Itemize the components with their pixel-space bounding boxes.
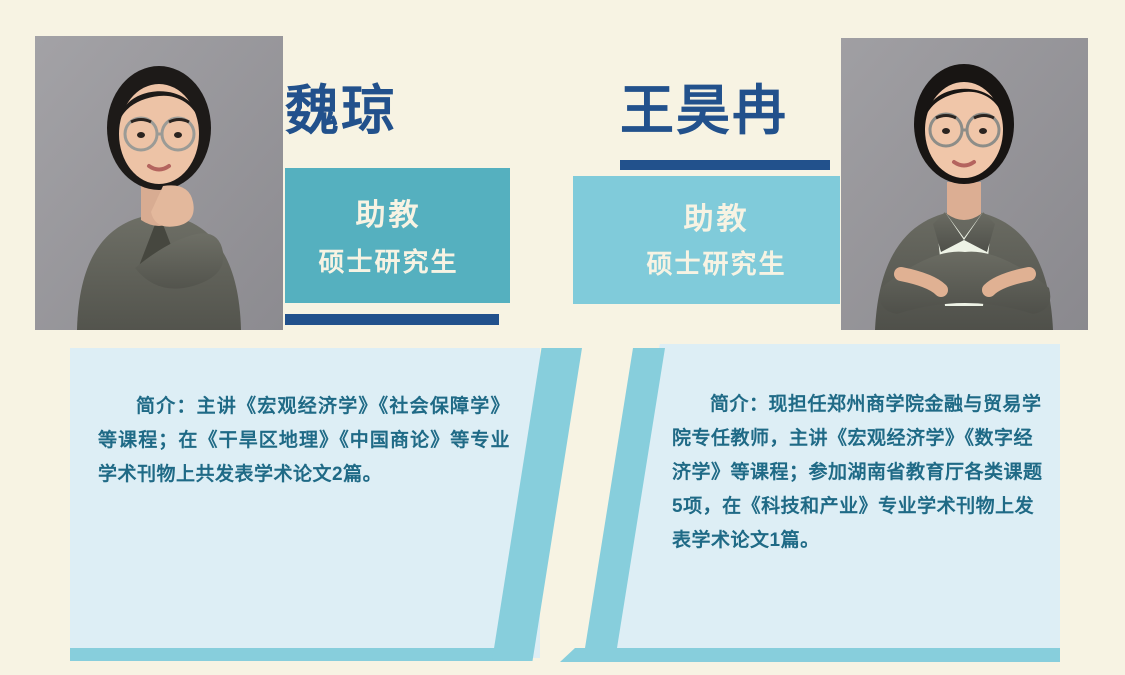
portrait-photo-left (35, 36, 283, 330)
person-name-right: 王昊冉 (620, 72, 920, 150)
person-name-left: 魏琼 (285, 72, 585, 150)
person-role-left: 助教 (285, 190, 492, 234)
diagonal-divider (511, 164, 566, 312)
person-degree-left: 硕士研究生 (285, 242, 492, 279)
bio-underbar-right (560, 648, 1060, 662)
bio-text-left: 简介：主讲《宏观经济学》《社会保障学》等课程；在《干旱区地理》《中国商论》等专业… (98, 390, 510, 492)
title-block-right: 助教 硕士研究生 (573, 176, 840, 304)
bio-card-right: 简介：现担任郑州商学院金融与贸易学院专任教师，主讲《宏观经济学》《数字经济学》等… (600, 344, 1060, 660)
person-degree-right: 硕士研究生 (593, 244, 840, 281)
title-block-left: 助教 硕士研究生 (285, 168, 510, 303)
person-role-right: 助教 (593, 194, 840, 238)
bio-text-right: 简介：现担任郑州商学院金融与贸易学院专任教师，主讲《宏观经济学》《数字经济学》等… (672, 388, 1050, 558)
bio-underbar-left (70, 648, 520, 661)
faculty-profile-board: 魏琼 助教 硕士研究生 (0, 0, 1125, 675)
bio-card-left: 简介：主讲《宏观经济学》《社会保障学》等课程；在《干旱区地理》《中国商论》等专业… (70, 348, 540, 658)
accent-rule-right (620, 160, 830, 170)
accent-rule-left (285, 314, 499, 325)
